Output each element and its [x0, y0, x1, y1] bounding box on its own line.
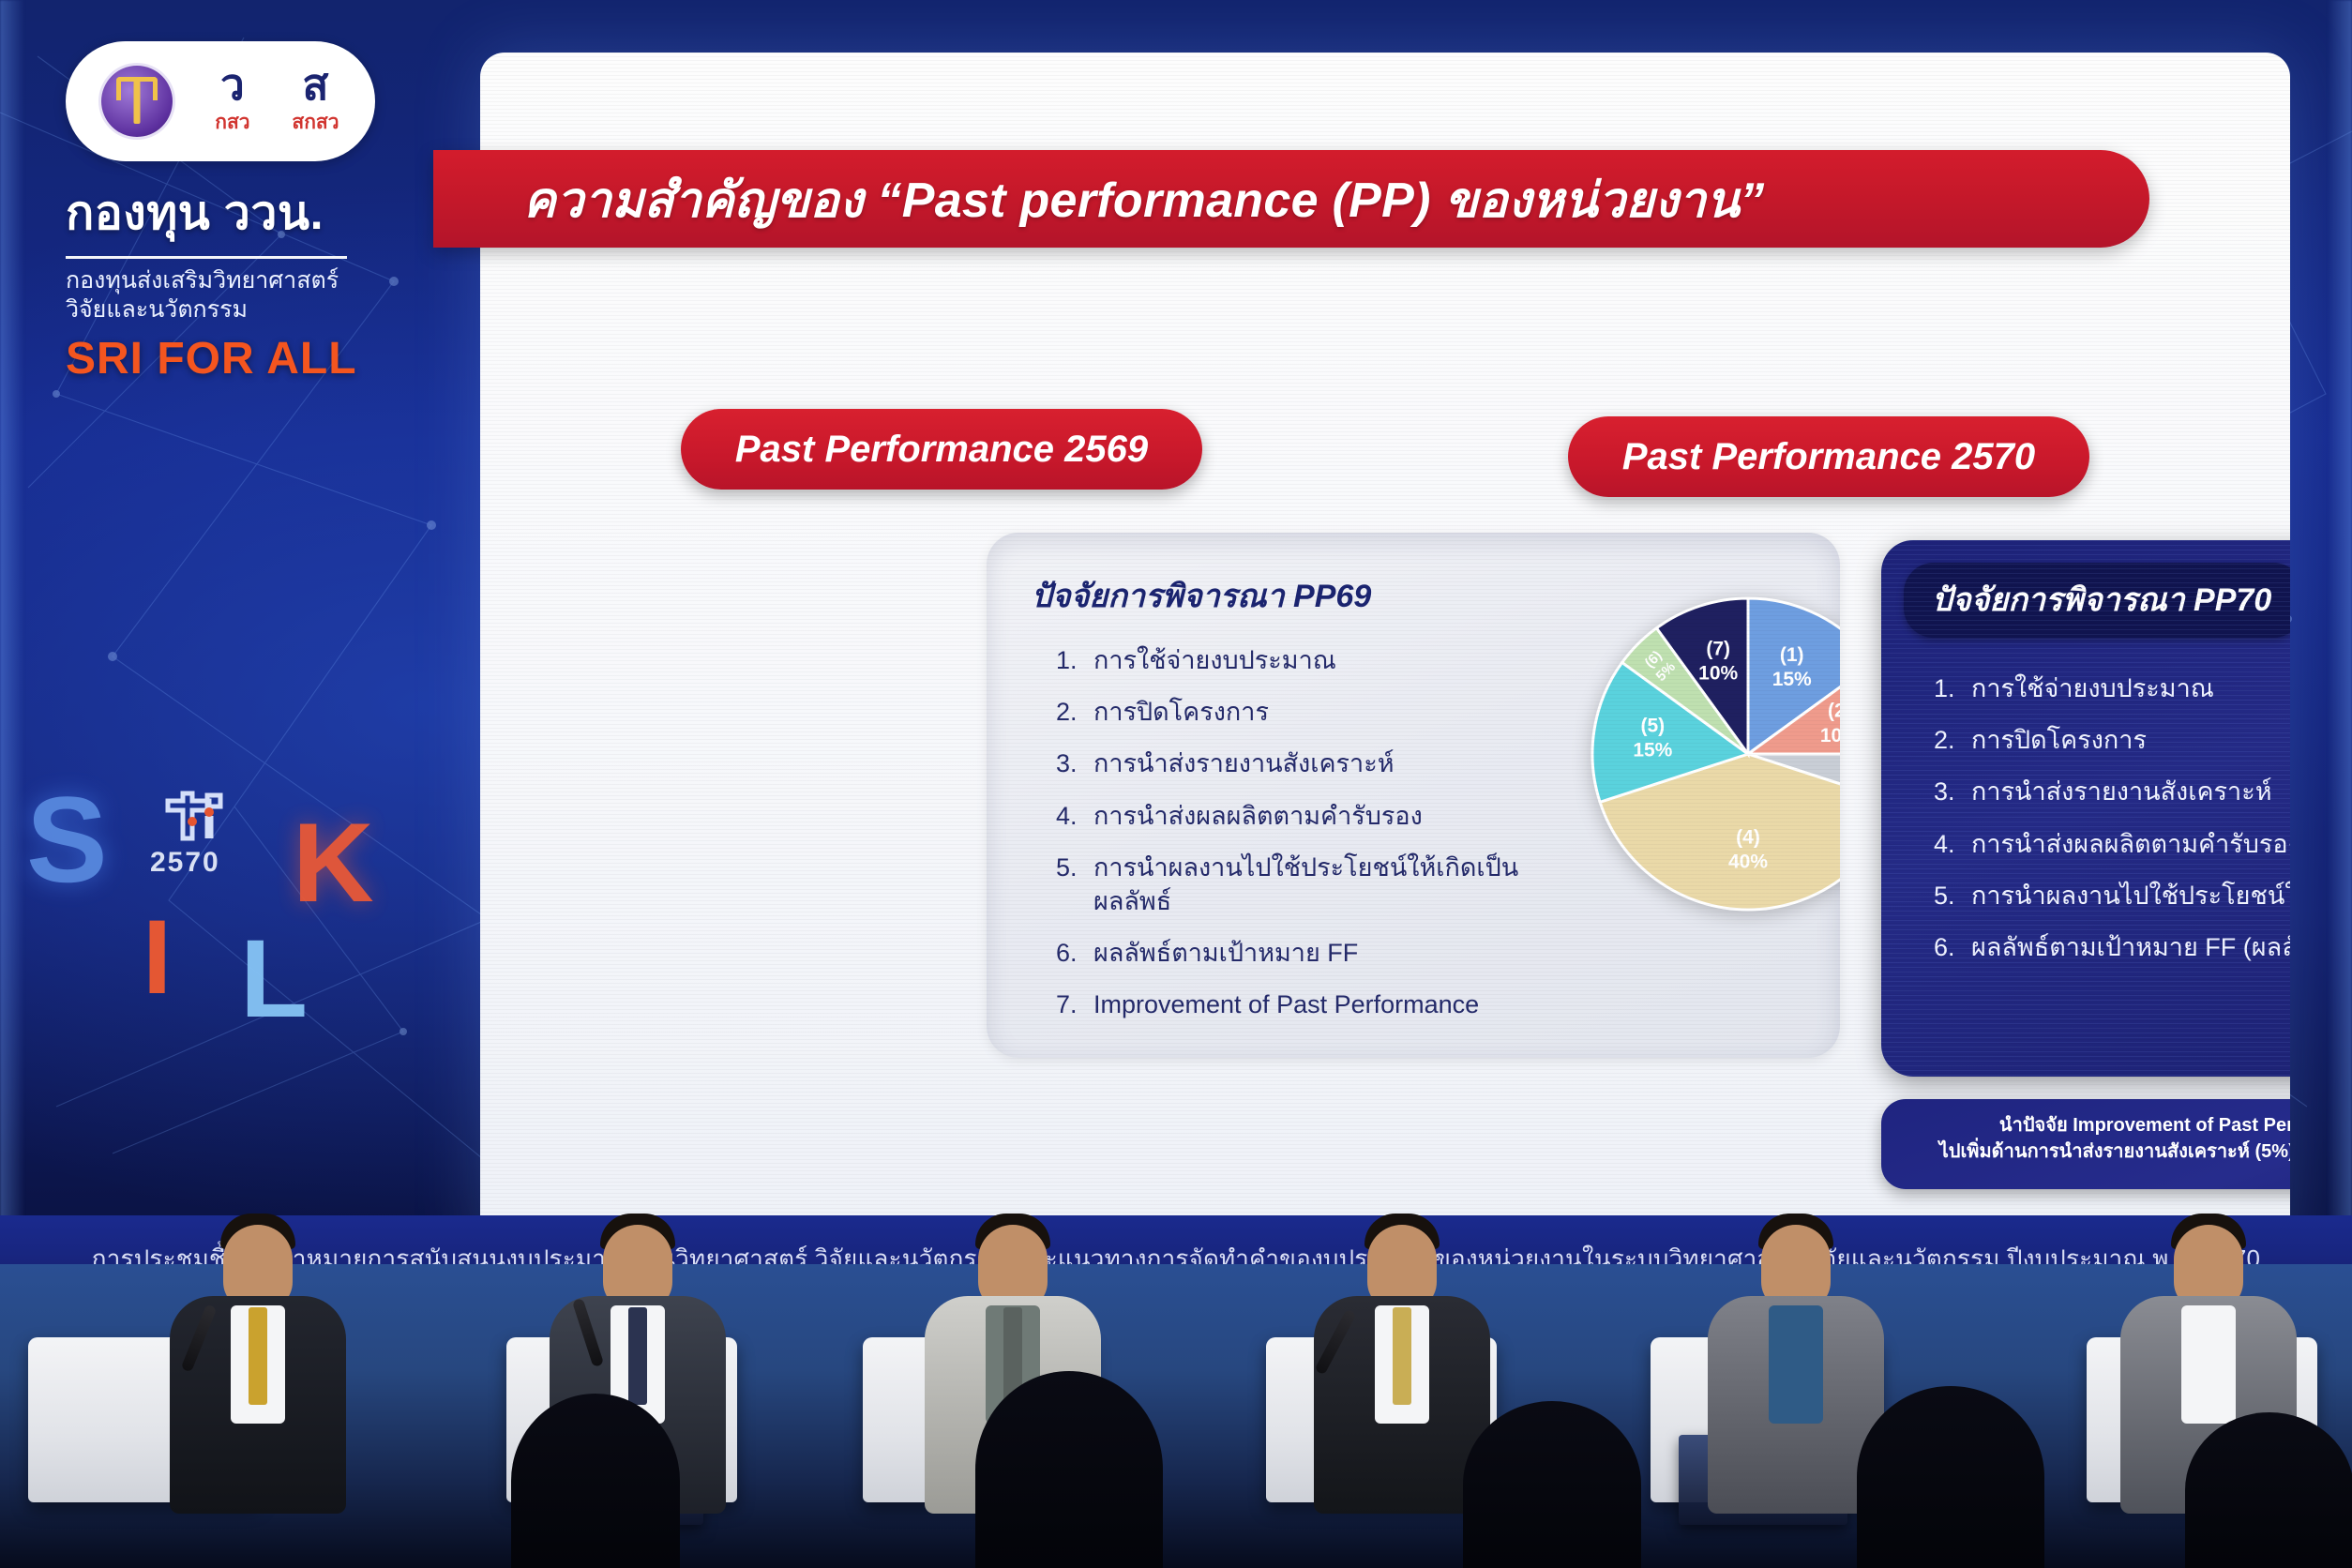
item-number: 2. [1056, 695, 1093, 729]
item-text: การปิดโครงการ [1093, 695, 1581, 729]
pie-slice-value: 10% [1820, 725, 1840, 746]
item-number: 4. [1934, 827, 1971, 861]
list-item: 3.การนำส่งรายงานสังเคราะห์ [1934, 775, 2290, 808]
pill-past-performance-2570: Past Performance 2570 [1568, 416, 2089, 497]
org-subtitle-line1: กองทุนส่งเสริมวิทยาศาสตร์ [66, 266, 431, 295]
footnote-line-1: นำปัจจัย Improvement of Past Performance… [1906, 1112, 2290, 1138]
pie-slice-category: (4) [1736, 826, 1760, 848]
audience-silhouette [1857, 1386, 2044, 1568]
card-heading-pp70: ปัจจัยการพิจารณา PP70 [1904, 563, 2290, 638]
logo-sakasawo: ส สกสว [292, 65, 339, 139]
list-item: 6.ผลลัพธ์ตามเป้าหมาย FF (ผลลัพธ์เชิงคุณภ… [1934, 930, 2290, 964]
item-number: 2. [1934, 723, 1971, 757]
item-number: 1. [1056, 643, 1093, 677]
item-text: ผลลัพธ์ตามเป้าหมาย FF [1093, 936, 1581, 970]
logo-pill: ว กสว ส สกสว [66, 41, 375, 161]
list-item: 1.การใช้จ่ายงบประมาณ [1056, 643, 1581, 677]
backdrop-letter-s: S [26, 778, 108, 900]
backdrop-year-badge: 2570 [150, 849, 220, 877]
pie-slice-category: (2) [1828, 701, 1840, 722]
audience-silhouette [2185, 1412, 2352, 1568]
necktie [249, 1307, 267, 1405]
item-text: การนำส่งรายงานสังเคราะห์ [1093, 746, 1581, 780]
item-text: การนำส่งผลผลิตตามคำรับรอง [1971, 827, 2290, 861]
list-item: 2.การปิดโครงการ [1056, 695, 1581, 729]
list-item: 5.การนำผลงานไปใช้ประโยชน์ให้เกิดเป็นผลลั… [1934, 879, 2290, 912]
item-text: การใช้จ่ายงบประมาณ [1093, 643, 1581, 677]
backdrop-letter-i: I [143, 905, 172, 1010]
item-number: 3. [1934, 775, 1971, 808]
pie-slice-value: 40% [1728, 851, 1768, 872]
org-subtitle-line2: วิจัยและนวัตกรรม [66, 295, 431, 324]
logo-caption: กสว [215, 107, 249, 138]
item-number: 7. [1056, 988, 1093, 1021]
dress-shirt [2181, 1305, 2236, 1424]
list-item: 6.ผลลัพธ์ตามเป้าหมาย FF [1056, 936, 1581, 970]
item-text: การปิดโครงการ [1971, 723, 2290, 757]
list-item: 4.การนำส่งผลผลิตตามคำรับรอง [1056, 799, 1581, 833]
list-item: 1.การใช้จ่ายงบประมาณ [1934, 671, 2290, 705]
pie-slice-value: 15% [1772, 669, 1812, 690]
org-slogan: SRI FOR ALL [66, 333, 431, 384]
slide-title-ribbon: ความสำคัญของ “Past performance (PP) ของห… [433, 150, 2149, 248]
list-item: 2.การปิดโครงการ [1934, 723, 2290, 757]
audience-silhouette [975, 1371, 1163, 1568]
org-title: กองทุน ววน. [66, 176, 431, 250]
item-text: ผลลัพธ์ตามเป้าหมาย FF (ผลลัพธ์เชิงคุณภาพ… [1971, 930, 2290, 964]
backdrop-letter-k: K [293, 807, 374, 919]
panelist [141, 1204, 375, 1514]
item-number: 6. [1056, 936, 1093, 970]
audience-silhouette [1463, 1401, 1641, 1568]
item-number: 5. [1056, 851, 1093, 884]
list-item: 4.การนำส่งผลผลิตตามคำรับรอง [1934, 827, 2290, 861]
logo-mark-glyph: ว [215, 65, 249, 106]
card-pp70: ปัจจัยการพิจารณา PP70 1.การใช้จ่ายงบประม… [1881, 540, 2290, 1077]
item-number: 4. [1056, 799, 1093, 833]
pie-chart-pp69: (1)15%(2)10%(3)5%(4)40%(5)15%(6)5%(7)10% [1589, 595, 1840, 913]
logo-divider [66, 256, 347, 259]
pie-slice-category: (7) [1706, 639, 1730, 660]
footnote-line-2: ไปเพิ่มด้านการนำส่งรายงานสังเคราะห์ (5%)… [1906, 1138, 2290, 1165]
audience-silhouette [511, 1394, 680, 1568]
item-number: 5. [1934, 879, 1971, 912]
pill-past-performance-2569: Past Performance 2569 [681, 409, 1202, 490]
org-logo-block: ว กสว ส สกสว กองทุน ววน. กองทุนส่งเสริมว… [66, 41, 431, 384]
list-item: 7.Improvement of Past Performance [1056, 988, 1581, 1021]
item-text: การนำผลงานไปใช้ประโยชน์ให้เกิดเป็นผลลัพธ… [1971, 879, 2290, 912]
item-text: การนำส่งผลผลิตตามคำรับรอง [1093, 799, 1581, 833]
ministry-crest-icon [101, 66, 173, 137]
backdrop-emblem-icon [155, 788, 226, 848]
item-text: การใช้จ่ายงบประมาณ [1971, 671, 2290, 705]
pie-slice-value: 10% [1698, 663, 1738, 685]
factor-list-pp70: 1.การใช้จ่ายงบประมาณ 2.การปิดโครงการ 3.ก… [1934, 671, 2290, 982]
logo-caption: สกสว [292, 107, 339, 138]
item-number: 6. [1934, 930, 1971, 964]
card-heading-pp69: ปัจจัยการพิจารณา PP69 [1032, 570, 1371, 621]
footnote-box: นำปัจจัย Improvement of Past Performance… [1881, 1099, 2290, 1189]
item-text: การนำส่งรายงานสังเคราะห์ [1971, 775, 2290, 808]
item-number: 3. [1056, 746, 1093, 780]
pie-slice-value: 15% [1633, 739, 1672, 761]
backdrop-letter-l: L [240, 924, 308, 1034]
slide-title: ความสำคัญของ “Past performance (PP) ของห… [433, 160, 1765, 238]
necktie [1393, 1307, 1411, 1405]
logo-kasawo: ว กสว [215, 65, 249, 139]
item-text: Improvement of Past Performance [1093, 988, 1581, 1021]
necktie [628, 1307, 647, 1405]
item-number: 1. [1934, 671, 1971, 705]
item-text: การนำผลงานไปใช้ประโยชน์ให้เกิดเป็นผลลัพธ… [1093, 851, 1581, 918]
list-item: 3.การนำส่งรายงานสังเคราะห์ [1056, 746, 1581, 780]
logo-mark-glyph: ส [292, 65, 339, 106]
card-pp69: ปัจจัยการพิจารณา PP69 1.การใช้จ่ายงบประม… [987, 533, 1840, 1058]
list-item: 5.การนำผลงานไปใช้ประโยชน์ให้เกิดเป็นผลลั… [1056, 851, 1581, 918]
dress-shirt [1769, 1305, 1823, 1424]
pie-slice-category: (1) [1780, 644, 1804, 666]
pie-slice-category: (5) [1641, 715, 1666, 736]
factor-list-pp69: 1.การใช้จ่ายงบประมาณ 2.การปิดโครงการ 3.ก… [1056, 643, 1581, 1039]
